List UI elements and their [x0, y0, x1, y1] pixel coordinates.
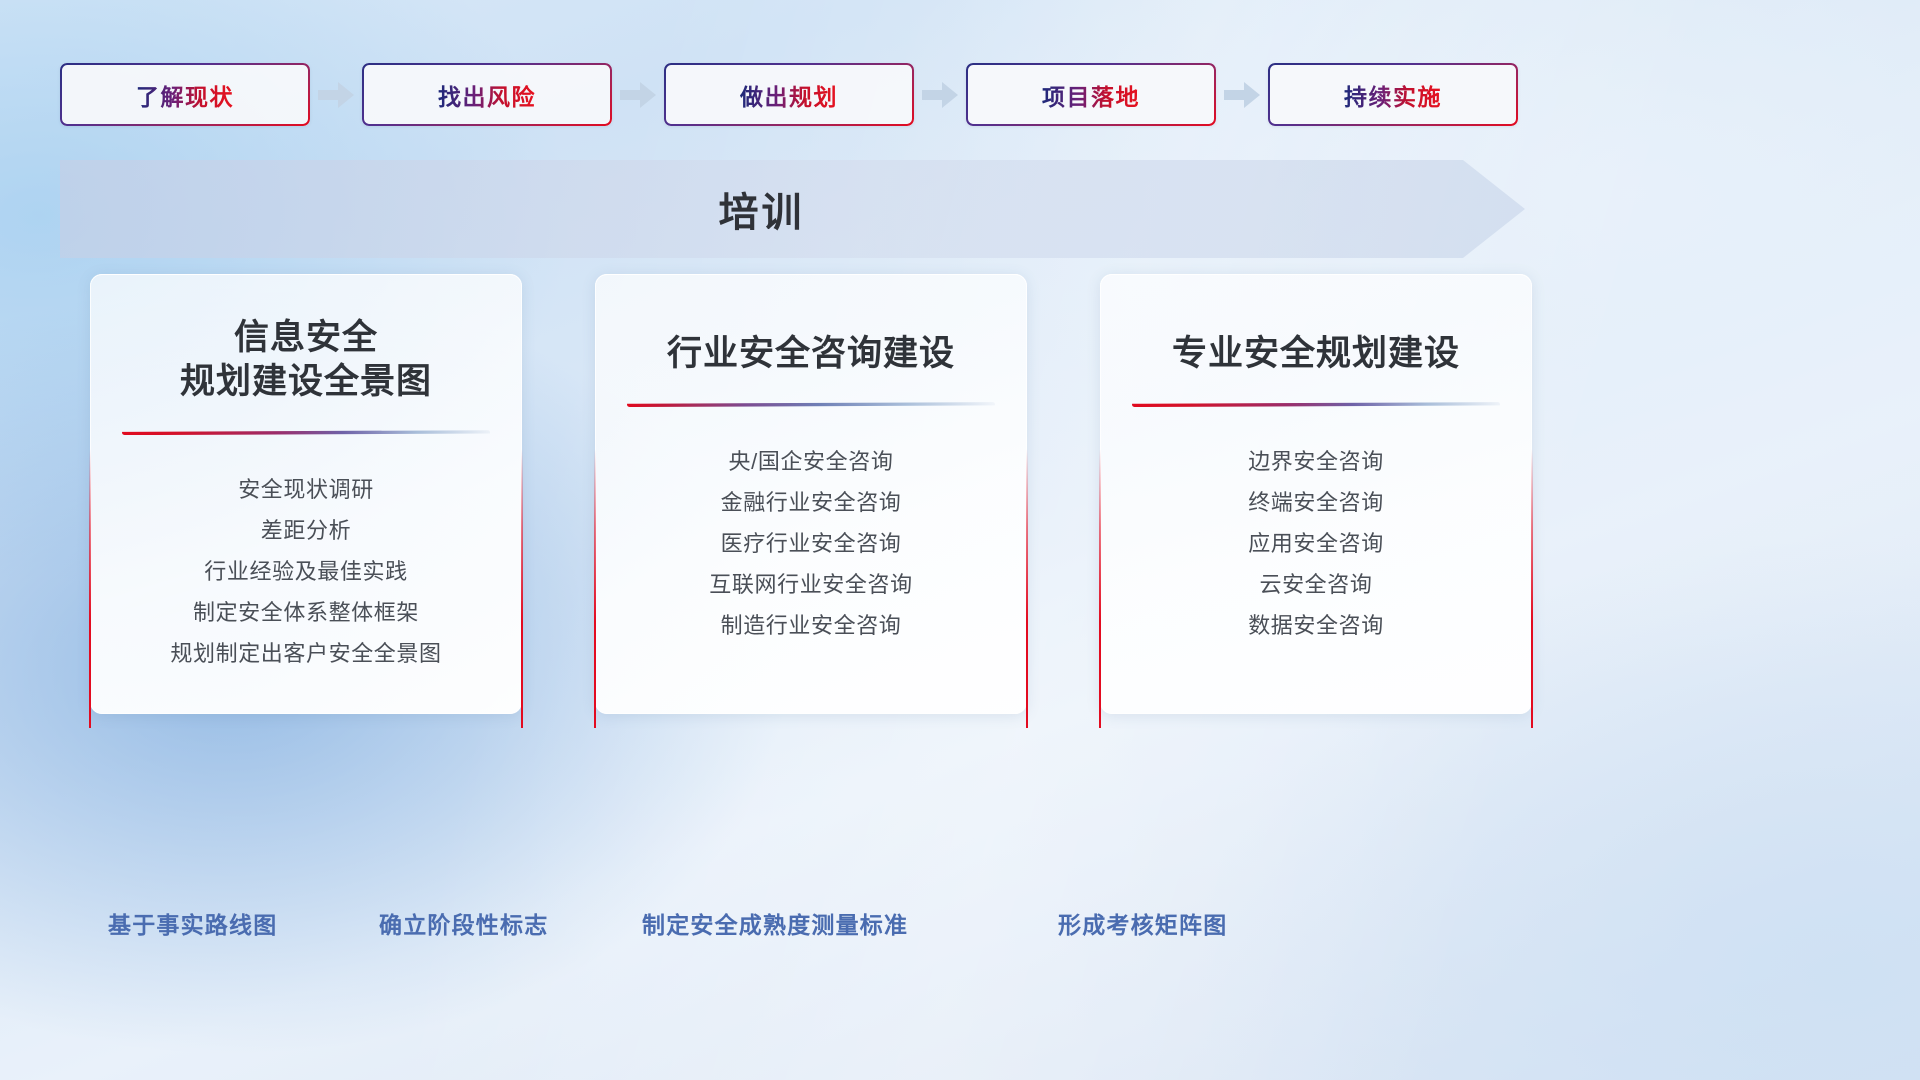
list-item: 边界安全咨询	[1100, 441, 1532, 482]
caption-matrix: 形成考核矩阵图	[1058, 906, 1227, 940]
step-box-1[interactable]: 了解现状	[60, 63, 310, 126]
card-divider	[1132, 402, 1500, 407]
list-item: 制造行业安全咨询	[595, 605, 1027, 646]
process-step-flow: 了解现状 找出风险 做出规划 项目落地	[60, 63, 1520, 126]
list-item: 医疗行业安全咨询	[595, 523, 1027, 564]
caption-roadmap: 基于事实路线图	[108, 906, 277, 940]
banner-title: 培训	[60, 160, 1463, 258]
card-title-line: 信息安全	[180, 316, 432, 360]
card-divider	[122, 430, 490, 435]
list-item: 金融行业安全咨询	[595, 482, 1027, 523]
step-box-5[interactable]: 持续实施	[1268, 63, 1518, 126]
step-box-2[interactable]: 找出风险	[362, 63, 612, 126]
arrow-right-icon	[310, 63, 362, 126]
step-label-5: 持续实施	[1344, 78, 1442, 112]
list-item: 制定安全体系整体框架	[90, 592, 522, 633]
card-title: 行业安全咨询建设	[649, 332, 973, 376]
list-item: 互联网行业安全咨询	[595, 564, 1027, 605]
slide-canvas: 了解现状 找出风险 做出规划 项目落地	[0, 0, 1920, 1080]
arrow-right-icon	[1216, 63, 1268, 126]
card-title-line: 规划建设全景图	[180, 360, 432, 404]
training-banner: 培训	[60, 160, 1525, 258]
list-item: 规划制定出客户安全全景图	[90, 633, 522, 674]
step-box-4[interactable]: 项目落地	[966, 63, 1216, 126]
card-information-security-blueprint[interactable]: 信息安全 规划建设全景图 安全现状调研 差距分析 行业经验及最佳实践 制定安全体…	[90, 274, 522, 714]
step-label-1: 了解现状	[136, 78, 234, 112]
list-item: 数据安全咨询	[1100, 605, 1532, 646]
arrow-right-icon	[914, 63, 966, 126]
step-label-3: 做出规划	[740, 78, 838, 112]
arrow-right-icon	[612, 63, 664, 126]
card-item-list: 安全现状调研 差距分析 行业经验及最佳实践 制定安全体系整体框架 规划制定出客户…	[90, 469, 522, 674]
list-item: 应用安全咨询	[1100, 523, 1532, 564]
card-title: 信息安全 规划建设全景图	[162, 316, 450, 404]
card-title: 专业安全规划建设	[1154, 332, 1478, 376]
caption-maturity: 制定安全成熟度测量标准	[642, 906, 908, 940]
step-box-3[interactable]: 做出规划	[664, 63, 914, 126]
card-item-list: 央/国企安全咨询 金融行业安全咨询 医疗行业安全咨询 互联网行业安全咨询 制造行…	[595, 441, 1027, 646]
card-title-line: 行业安全咨询建设	[667, 332, 955, 376]
list-item: 差距分析	[90, 510, 522, 551]
step-label-4: 项目落地	[1042, 78, 1140, 112]
card-professional-security-planning[interactable]: 专业安全规划建设 边界安全咨询 终端安全咨询 应用安全咨询 云安全咨询 数据安全…	[1100, 274, 1532, 714]
caption-row: 基于事实路线图 确立阶段性标志 制定安全成熟度测量标准 形成考核矩阵图	[0, 906, 1920, 956]
list-item: 安全现状调研	[90, 469, 522, 510]
card-divider	[627, 402, 995, 407]
list-item: 云安全咨询	[1100, 564, 1532, 605]
step-label-2: 找出风险	[438, 78, 536, 112]
list-item: 终端安全咨询	[1100, 482, 1532, 523]
card-title-line: 专业安全规划建设	[1172, 332, 1460, 376]
caption-milestone: 确立阶段性标志	[379, 906, 548, 940]
card-row: 信息安全 规划建设全景图 安全现状调研 差距分析 行业经验及最佳实践 制定安全体…	[90, 274, 1532, 714]
list-item: 央/国企安全咨询	[595, 441, 1027, 482]
card-item-list: 边界安全咨询 终端安全咨询 应用安全咨询 云安全咨询 数据安全咨询	[1100, 441, 1532, 646]
list-item: 行业经验及最佳实践	[90, 551, 522, 592]
card-industry-security-consulting[interactable]: 行业安全咨询建设 央/国企安全咨询 金融行业安全咨询 医疗行业安全咨询 互联网行…	[595, 274, 1027, 714]
